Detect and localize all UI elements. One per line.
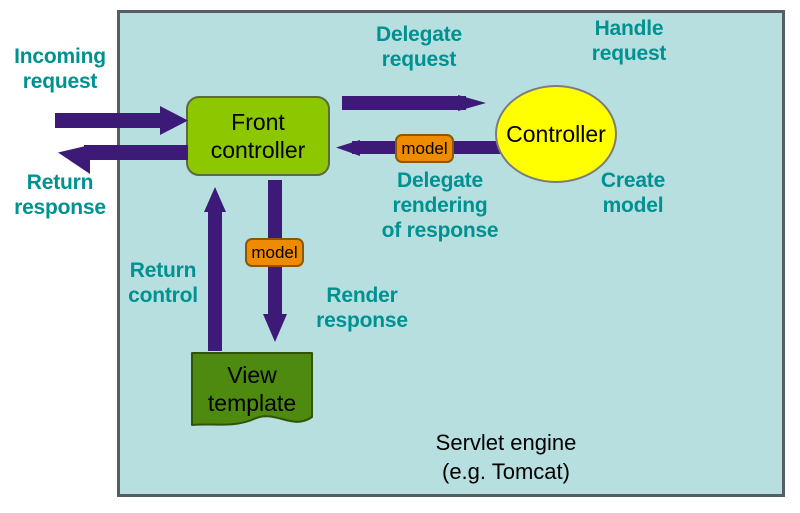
token-model-front-to-view[interactable]: model bbox=[245, 238, 304, 267]
arrow-return-response bbox=[58, 145, 188, 174]
arrow-incoming-request bbox=[55, 106, 188, 135]
token-model-controller-to-front[interactable]: model bbox=[395, 134, 454, 163]
diagram-root: Front controller Controller View templat… bbox=[0, 0, 800, 513]
node-controller[interactable]: Controller bbox=[495, 85, 617, 183]
arrow-return-control bbox=[204, 187, 226, 351]
arrow-layer bbox=[0, 0, 800, 513]
arrow-delegate-request bbox=[342, 95, 486, 111]
